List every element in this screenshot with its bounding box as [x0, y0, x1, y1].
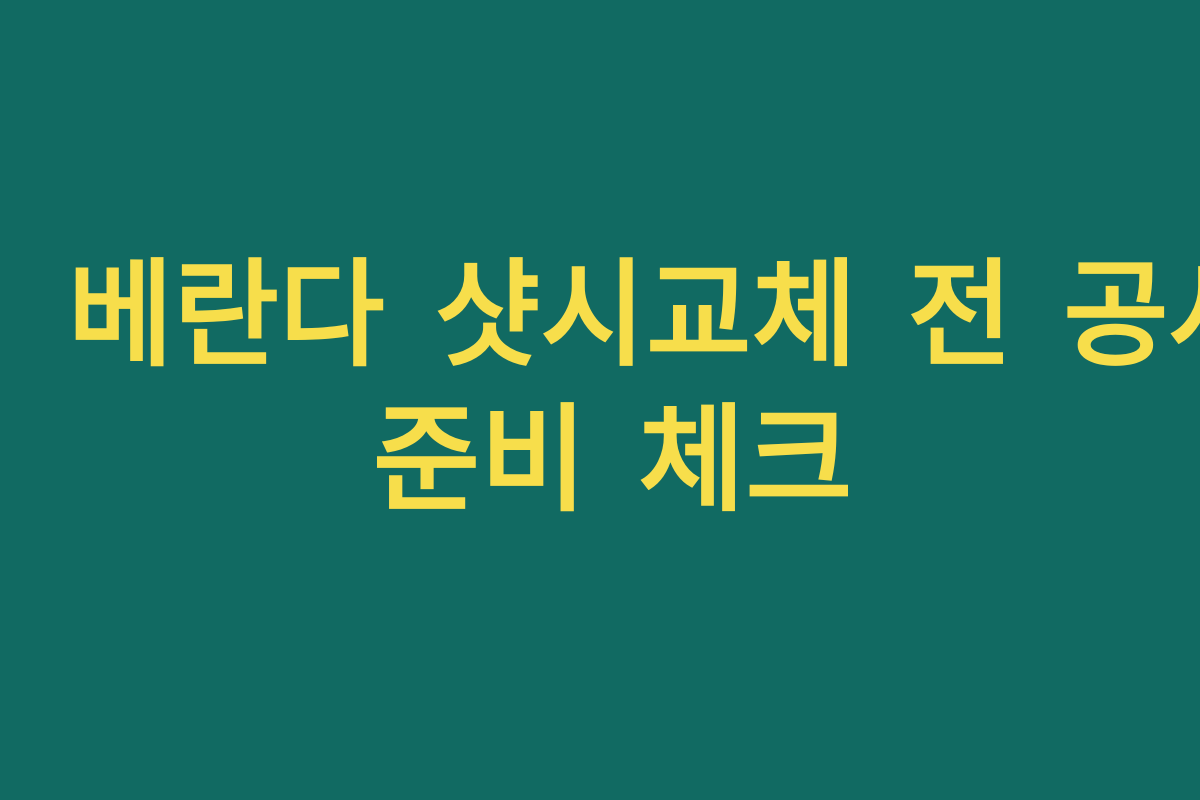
page-title-line-1: 베란다 샷시교체 전 공사	[68, 243, 1132, 388]
page-title: 베란다 샷시교체 전 공사 준비 체크	[60, 243, 1140, 533]
page-title-line-2: 준비 체크	[60, 388, 1140, 533]
banner-canvas: 베란다 샷시교체 전 공사 준비 체크	[0, 0, 1200, 800]
